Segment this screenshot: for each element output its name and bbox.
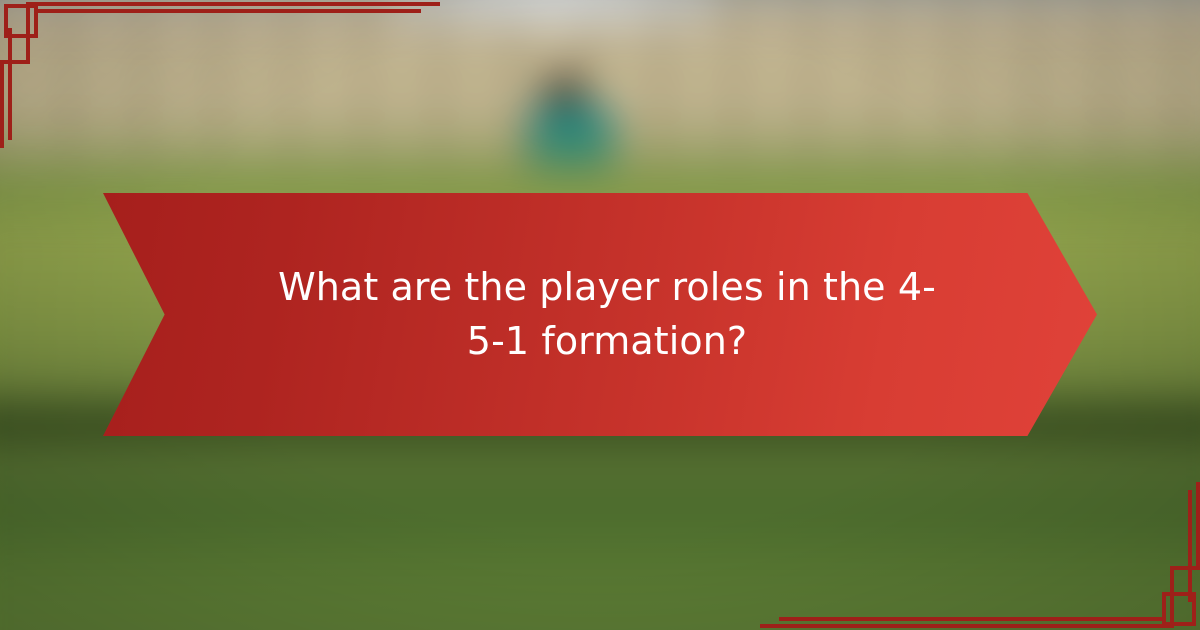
corner-line-bottom-inner <box>779 617 1166 621</box>
corner-line-left-inner <box>8 28 12 140</box>
corner-line-left-outer <box>0 60 4 148</box>
corner-line-left-connector <box>0 60 30 64</box>
corner-line-right-joint <box>1170 566 1174 628</box>
banner-container: What are the player roles in the 4-5-1 f… <box>103 193 1097 436</box>
banner-title: What are the player roles in the 4-5-1 f… <box>250 261 950 369</box>
corner-line-top-inner <box>34 9 421 13</box>
corner-line-left-joint <box>26 2 30 64</box>
corner-line-right-outer <box>1196 482 1200 570</box>
corner-line-right-inner <box>1188 490 1192 602</box>
share-card: What are the player roles in the 4-5-1 f… <box>0 0 1200 630</box>
corner-line-top-outer <box>28 2 440 6</box>
ribbon-banner: What are the player roles in the 4-5-1 f… <box>103 193 1097 436</box>
corner-line-bottom-outer <box>760 624 1172 628</box>
